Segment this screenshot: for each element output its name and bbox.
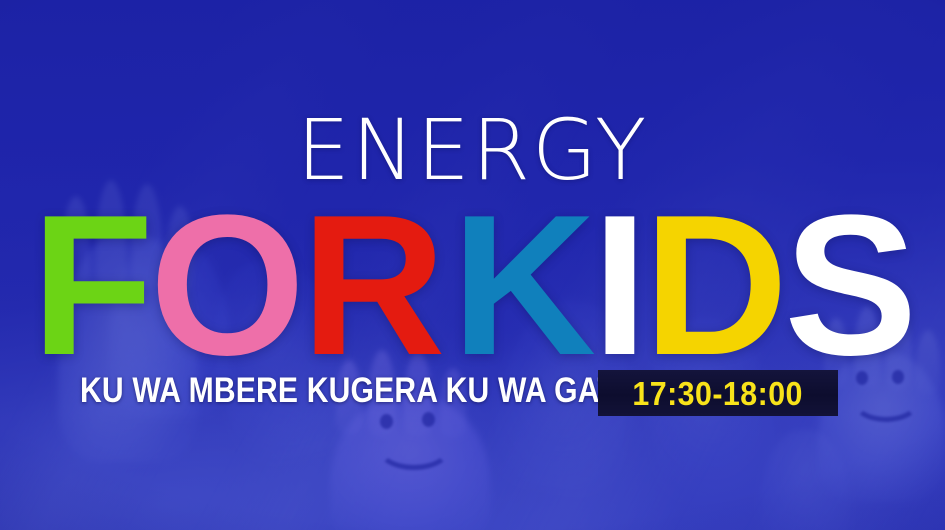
schedule-time-text: 17:30-18:00 (633, 377, 803, 410)
title-letter-s: S (784, 174, 913, 397)
title-letter-o: O (150, 174, 302, 397)
schedule-time-badge: 17:30-18:00 (598, 370, 838, 416)
schedule-days-text: KU WA MBERE KUGERA KU WA GATANU (80, 371, 680, 411)
title-letter-r: R (301, 174, 451, 397)
title-letter-d: D (644, 174, 784, 397)
title-letter-k: K (452, 174, 592, 397)
promo-banner: ENERGY FORKIDS KU WA MBERE KUGERA KU WA … (0, 0, 945, 530)
title-letter-i: I (592, 174, 644, 397)
title-line-for-kids: FORKIDS (0, 186, 945, 386)
title-letter-f: F (31, 174, 149, 397)
title-block: ENERGY FORKIDS KU WA MBERE KUGERA KU WA … (0, 0, 945, 530)
